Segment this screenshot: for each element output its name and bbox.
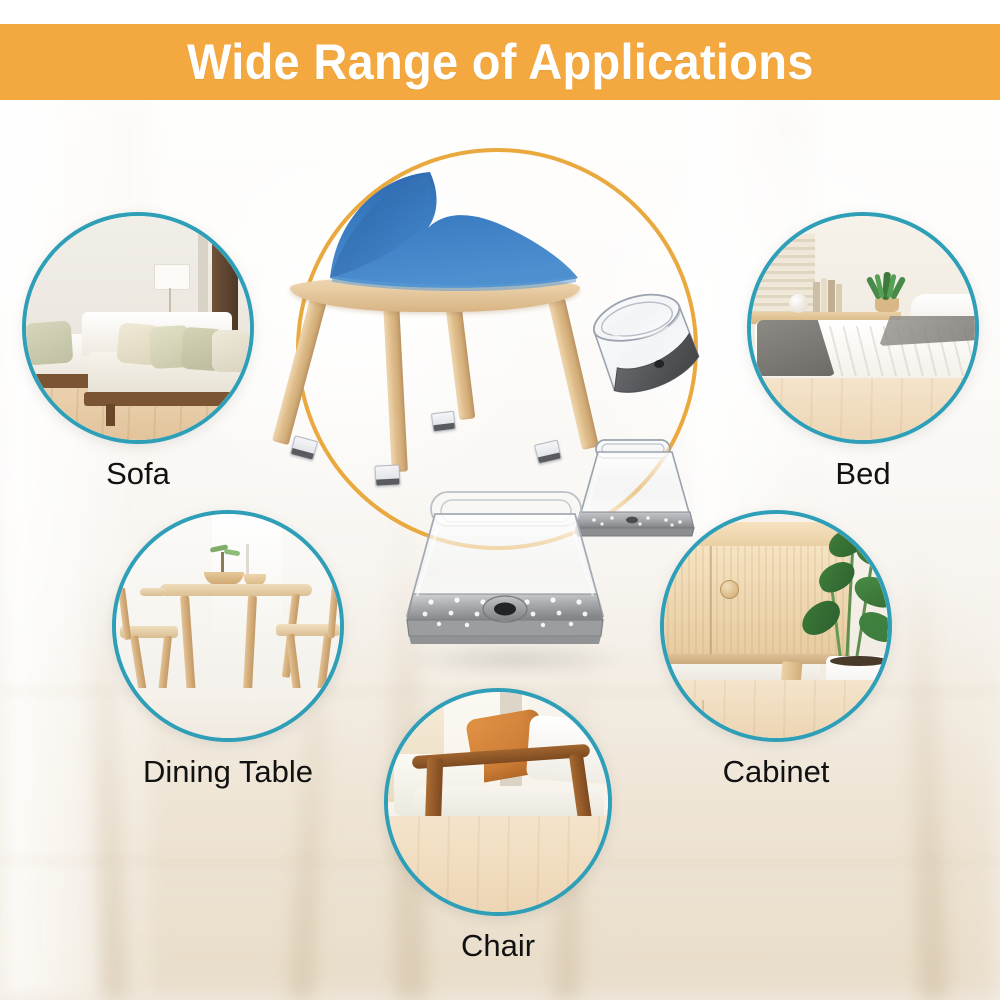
scene-sofa bbox=[26, 216, 250, 440]
scene-chair bbox=[388, 692, 608, 912]
stool-leg-cap-mid-left bbox=[374, 464, 400, 486]
stool-leg-mid-right bbox=[445, 301, 475, 420]
callout-sofa-label: Sofa bbox=[106, 456, 170, 492]
stool-leg-cap-mid-right bbox=[431, 411, 456, 433]
product-cap-front-large bbox=[395, 488, 615, 658]
callout-chair-circle bbox=[384, 688, 612, 916]
callout-bed-label: Bed bbox=[835, 456, 890, 492]
callout-bed-circle bbox=[747, 212, 979, 444]
callout-chair: Chair bbox=[384, 688, 612, 916]
stool-leg-mid-left bbox=[383, 302, 408, 473]
callout-sofa-circle bbox=[22, 212, 254, 444]
callout-cabinet-label: Cabinet bbox=[723, 754, 830, 790]
stool-blue-cushion bbox=[288, 166, 584, 294]
infographic-page: Wide Range of Applications bbox=[0, 0, 1000, 1000]
product-drop-shadow bbox=[400, 642, 630, 676]
scene-bed bbox=[751, 216, 975, 440]
stool-leg-left bbox=[272, 298, 327, 445]
callout-chair-label: Chair bbox=[461, 928, 535, 964]
stool-leg-cap-right bbox=[534, 440, 562, 465]
callout-bed: Bed bbox=[747, 212, 979, 444]
stool-leg-cap-left bbox=[290, 435, 318, 461]
page-title: Wide Range of Applications bbox=[187, 37, 814, 87]
callout-dining-table-label: Dining Table bbox=[143, 754, 313, 790]
product-cap-tilted bbox=[570, 270, 717, 415]
callout-sofa: Sofa bbox=[22, 212, 254, 444]
header-banner: Wide Range of Applications bbox=[0, 24, 1000, 100]
center-product-stage bbox=[280, 150, 720, 670]
